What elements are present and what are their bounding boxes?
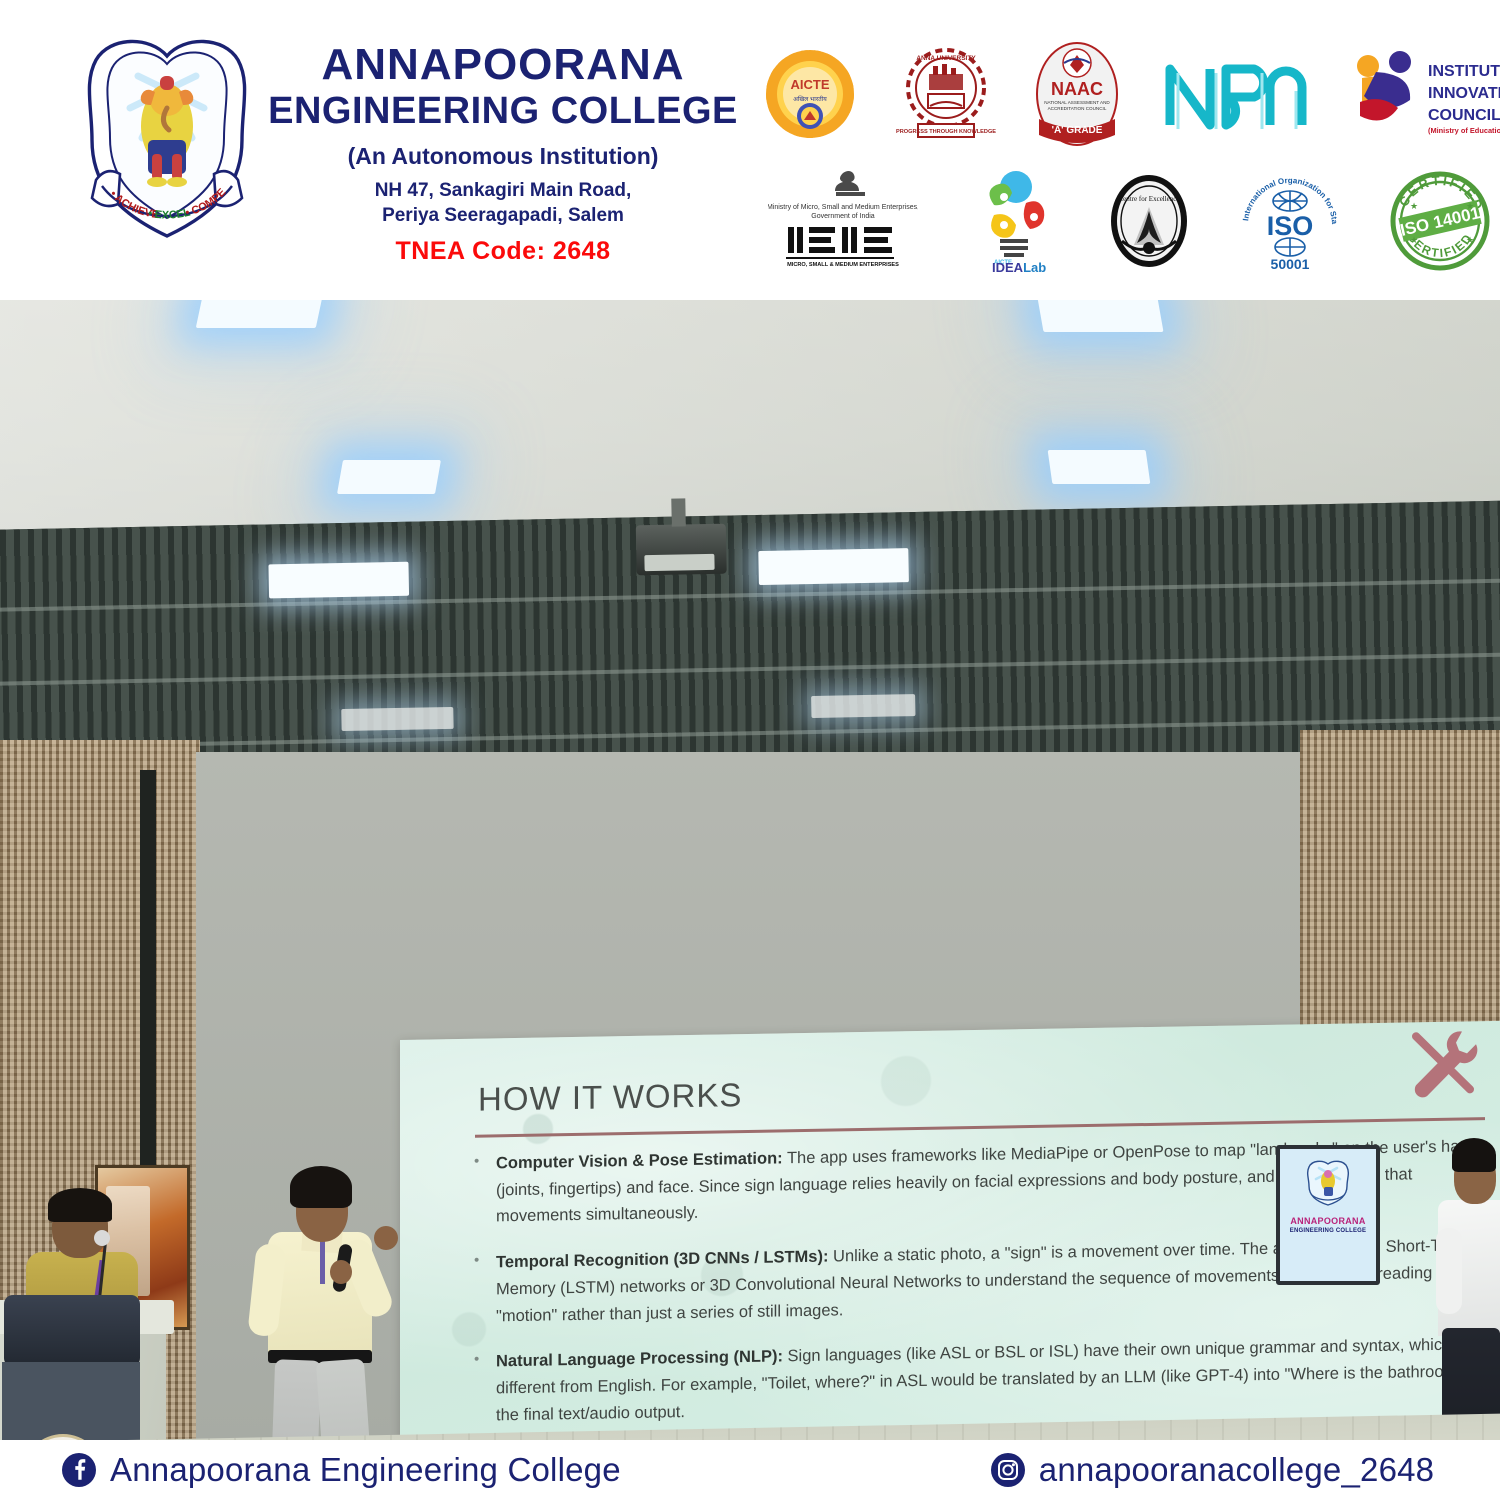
display-crest-icon (1305, 1159, 1351, 1207)
svg-text:IDEALab: IDEALab (992, 260, 1046, 273)
podium-microphone-head (94, 1230, 110, 1246)
svg-text:INSTITUTION'S: INSTITUTION'S (1428, 63, 1500, 80)
svg-text:'A' GRADE: 'A' GRADE (1052, 125, 1103, 136)
iso-50001-logo-icon: International Organization for Standardi… (1238, 169, 1342, 273)
accreditation-logos: AICTE अखिल भारतीय ANNA UNIVERSITY (762, 36, 1492, 286)
college-header: • ACHIEVE • EXCEL • COMPETE ANNAPOORANA … (0, 0, 1500, 300)
ceiling-light (341, 707, 453, 731)
presenter-right-hand (374, 1226, 398, 1250)
instagram-label: annapooranacollege_2648 (1039, 1451, 1434, 1489)
svg-text:AICTE: AICTE (791, 77, 830, 92)
display-title: ANNAPOORANA (1290, 1216, 1365, 1226)
college-name-block: ANNAPOORANA ENGINEERING COLLEGE (An Auto… (268, 42, 738, 266)
attendee-hair (1452, 1138, 1496, 1172)
event-photo: HOW IT WORKS Computer Vision & Pose (0, 300, 1500, 1440)
tnea-code: TNEA Code: 2648 (268, 237, 738, 266)
poster-page: • ACHIEVE • EXCEL • COMPETE ANNAPOORANA … (0, 0, 1500, 1500)
bullet-heading: Computer Vision & Pose Estimation: (496, 1149, 783, 1172)
college-name-line1: ANNAPOORANA (268, 42, 738, 88)
presenter-hair (290, 1166, 352, 1208)
aicte-idea-lab-logo-icon: AICTE IDEALab (964, 169, 1060, 273)
ceiling-projector-icon (636, 524, 727, 576)
attendee-arm (1436, 1228, 1462, 1314)
svg-text:INNOVATION: INNOVATION (1428, 85, 1500, 102)
wall-mounted-display: ANNAPOORANA ENGINEERING COLLEGE (1276, 1145, 1380, 1285)
slide-bullet: Natural Language Processing (NLP): Sign … (468, 1331, 1498, 1429)
svg-text:★: ★ (1466, 201, 1474, 211)
facebook-handle[interactable]: Annapoorana Engineering College (62, 1451, 621, 1489)
svg-text:(Ministry of Education Initiat: (Ministry of Education Initiative) (1428, 126, 1500, 135)
anna-university-logo-icon: ANNA UNIVERSITY PROGRESS THROUGH KNOWLED… (896, 44, 996, 144)
ceiling-light (196, 300, 325, 328)
svg-text:50001: 50001 (1271, 256, 1310, 272)
ceiling-light (811, 694, 915, 718)
svg-text:★: ★ (1466, 235, 1474, 245)
nba-logo-icon (1158, 55, 1308, 133)
bullet-heading: Temporal Recognition (3D CNNs / LSTMs): (496, 1248, 828, 1272)
faculty-hair (48, 1188, 112, 1222)
ceiling-light (758, 548, 909, 585)
svg-text:★: ★ (1410, 201, 1418, 211)
svg-text:Ministry of Micro, Small and M: Ministry of Micro, Small and Medium Ente… (768, 204, 918, 211)
presenter-left-leg (269, 1359, 321, 1440)
facebook-label: Annapoorana Engineering College (110, 1451, 621, 1489)
address-line1: NH 47, Sankagiri Main Road, (268, 178, 738, 204)
slide-title: HOW IT WORKS (478, 1076, 742, 1119)
svg-text:★: ★ (1410, 235, 1418, 245)
ceiling-light (337, 460, 441, 494)
display-subtitle: ENGINEERING COLLEGE (1290, 1228, 1366, 1234)
aicte-logo-icon: AICTE अखिल भारतीय (762, 46, 858, 142)
slide-divider (475, 1117, 1485, 1138)
institutions-innovation-council-logo-icon: INSTITUTION'S INNOVATION COUNCIL (Minist… (1346, 48, 1500, 140)
iso-14001-certified-logo-icon: CERTIFIED CERTIFIED ISO 14001 ★ ★ ★ ★ (1388, 169, 1492, 273)
college-name-line2: ENGINEERING COLLEGE (268, 90, 738, 133)
svg-text:ANNA UNIVERSITY: ANNA UNIVERSITY (916, 55, 976, 62)
college-crest-icon: • ACHIEVE • EXCEL • COMPETE (72, 30, 262, 245)
address-line2: Periya Seeragapadi, Salem (268, 203, 738, 229)
autonomous-label: (An Autonomous Institution) (268, 143, 738, 170)
svg-text:Centre for Excellence: Centre for Excellence (1118, 195, 1179, 203)
svg-text:ACCREDITATION COUNCIL: ACCREDITATION COUNCIL (1048, 106, 1107, 111)
ceiling-slat-panel (0, 500, 1500, 781)
svg-text:NATIONAL ASSESSMENT AND: NATIONAL ASSESSMENT AND (1044, 100, 1110, 105)
laptop (4, 1295, 140, 1367)
ceiling-light (1048, 450, 1151, 484)
instagram-icon (991, 1453, 1025, 1487)
facebook-icon (62, 1453, 96, 1487)
svg-text:COUNCIL: COUNCIL (1428, 107, 1500, 124)
bullet-heading: Natural Language Processing (NLP): (496, 1348, 783, 1371)
presenter-left-hand (330, 1260, 352, 1284)
centre-for-excellence-emblem-icon: Centre for Excellence (1106, 171, 1192, 271)
svg-text:Government of India: Government of India (811, 213, 875, 220)
svg-text:MICRO, SMALL & MEDIUM ENTERPRI: MICRO, SMALL & MEDIUM ENTERPRISES (787, 262, 899, 268)
naac-logo-icon: NAAC NATIONAL ASSESSMENT AND ACCREDITATI… (1034, 41, 1120, 147)
instagram-handle[interactable]: annapooranacollege_2648 (991, 1451, 1434, 1489)
svg-text:ISO: ISO (1267, 211, 1314, 241)
ceiling-light (1036, 300, 1163, 332)
svg-text:अखिल भारतीय: अखिल भारतीय (793, 95, 827, 103)
presenter-lanyard (320, 1238, 325, 1284)
msme-logo-icon: Ministry of Micro, Small and Medium Ente… (768, 169, 918, 273)
ceiling-light (268, 562, 409, 599)
podium-front-panel (2, 1362, 140, 1440)
svg-text:NAAC: NAAC (1051, 79, 1103, 99)
social-footer: Annapoorana Engineering College annapoor… (0, 1440, 1500, 1500)
svg-text:PROGRESS THROUGH KNOWLEDGE: PROGRESS THROUGH KNOWLEDGE (896, 129, 996, 135)
wrench-screwdriver-icon (1400, 1025, 1488, 1101)
